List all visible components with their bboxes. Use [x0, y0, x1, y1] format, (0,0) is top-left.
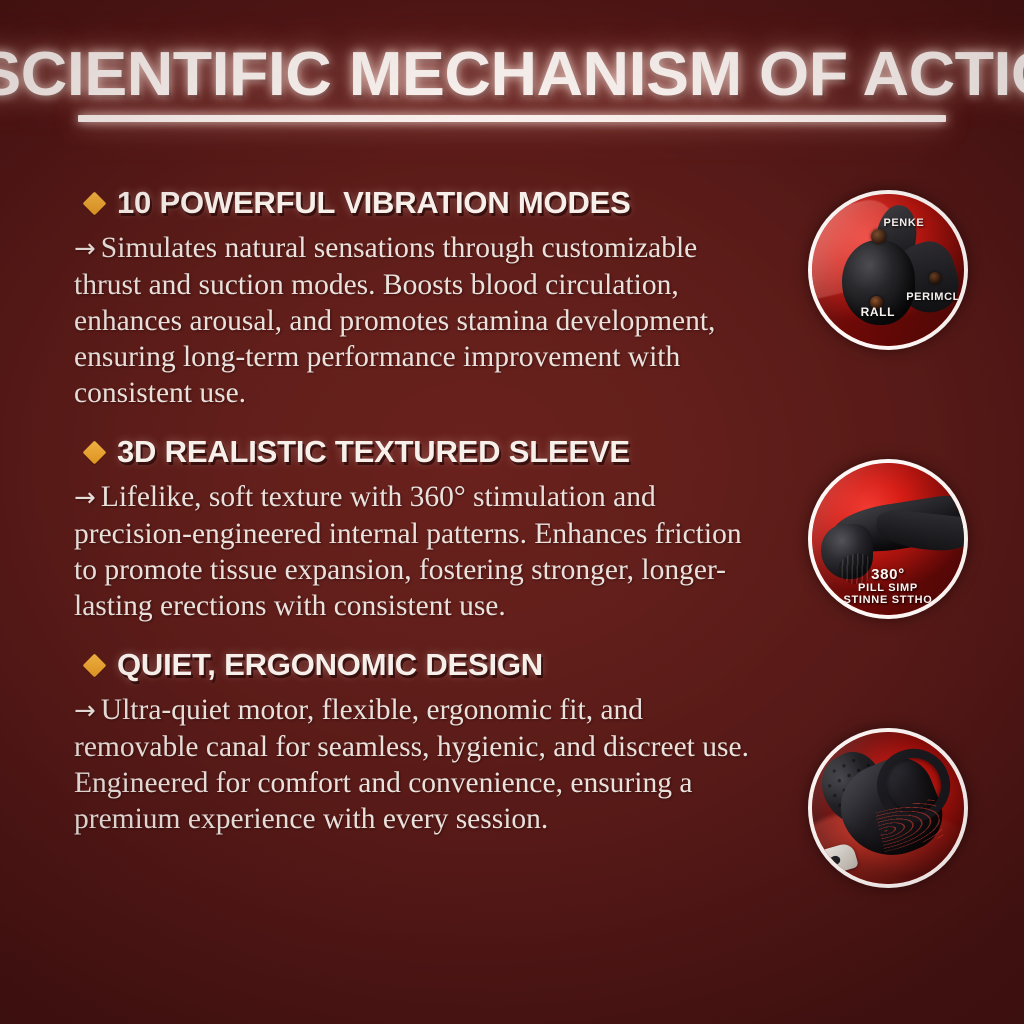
- title-underline-rule: [78, 115, 946, 122]
- product-photo-image: PENKE RALL PERIMCL: [812, 194, 964, 346]
- product-photo-column: PENKE RALL PERIMCL 380° PILL SIMP STINNE…: [808, 190, 972, 888]
- title-block: SCIENTIFIC MECHANISM OF ACTION: [0, 42, 1024, 122]
- diamond-bullet-icon: [82, 191, 106, 215]
- product-photo-vibration: PENKE RALL PERIMCL: [808, 190, 968, 350]
- arrow-right-icon: →: [74, 234, 101, 264]
- diamond-bullet-icon: [82, 440, 106, 464]
- photo-caption-line1: PILL SIMP: [812, 582, 964, 594]
- photo-caption-line2: STINNE STTHO: [812, 594, 964, 606]
- feature-heading-label: 10 POWERFUL VIBRATION MODES: [117, 186, 631, 220]
- feature-body-text: Simulates natural sensations through cus…: [74, 232, 715, 409]
- feature-body-paragraph: →Ultra-quiet motor, flexible, ergonomic …: [74, 692, 764, 837]
- feature-body-text: Lifelike, soft texture with 360° stimula…: [74, 481, 742, 622]
- feature-heading-label: 3D REALISTIC TEXTURED SLEEVE: [117, 435, 630, 469]
- photo-label-right: PERIMCL: [906, 291, 960, 303]
- photo-label-top: PENKE: [883, 217, 924, 229]
- feature-section-textured-sleeve: 3D REALISTIC TEXTURED SLEEVE →Lifelike, …: [74, 435, 764, 624]
- photo-label-bottom-left: RALL: [861, 305, 895, 319]
- product-photo-image: 380° PILL SIMP STINNE STTHO: [812, 463, 964, 615]
- feature-body-text: Ultra-quiet motor, flexible, ergonomic f…: [74, 694, 749, 835]
- product-photo-image: [812, 732, 964, 884]
- arrow-right-icon: →: [74, 483, 101, 513]
- page-title: SCIENTIFIC MECHANISM OF ACTION: [0, 42, 1024, 108]
- feature-heading-row: 10 POWERFUL VIBRATION MODES: [74, 186, 764, 220]
- feature-section-vibration-modes: 10 POWERFUL VIBRATION MODES →Simulates n…: [74, 186, 764, 411]
- diamond-bullet-icon: [82, 653, 106, 677]
- product-photo-ergonomic: [808, 728, 968, 888]
- feature-body-paragraph: →Lifelike, soft texture with 360° stimul…: [74, 479, 764, 624]
- product-photo-sleeve: 380° PILL SIMP STINNE STTHO: [808, 459, 968, 619]
- feature-heading-row: QUIET, ERGONOMIC DESIGN: [74, 648, 764, 682]
- poster-canvas: SCIENTIFIC MECHANISM OF ACTION 10 POWERF…: [0, 0, 1024, 1024]
- feature-heading-label: QUIET, ERGONOMIC DESIGN: [117, 648, 543, 682]
- feature-section-ergonomic-design: QUIET, ERGONOMIC DESIGN →Ultra-quiet mot…: [74, 648, 764, 837]
- feature-list: 10 POWERFUL VIBRATION MODES →Simulates n…: [74, 186, 764, 837]
- arrow-right-icon: →: [74, 696, 101, 726]
- photo-gloss-overlay: [812, 732, 964, 884]
- feature-heading-row: 3D REALISTIC TEXTURED SLEEVE: [74, 435, 764, 469]
- feature-body-paragraph: →Simulates natural sensations through cu…: [74, 230, 764, 411]
